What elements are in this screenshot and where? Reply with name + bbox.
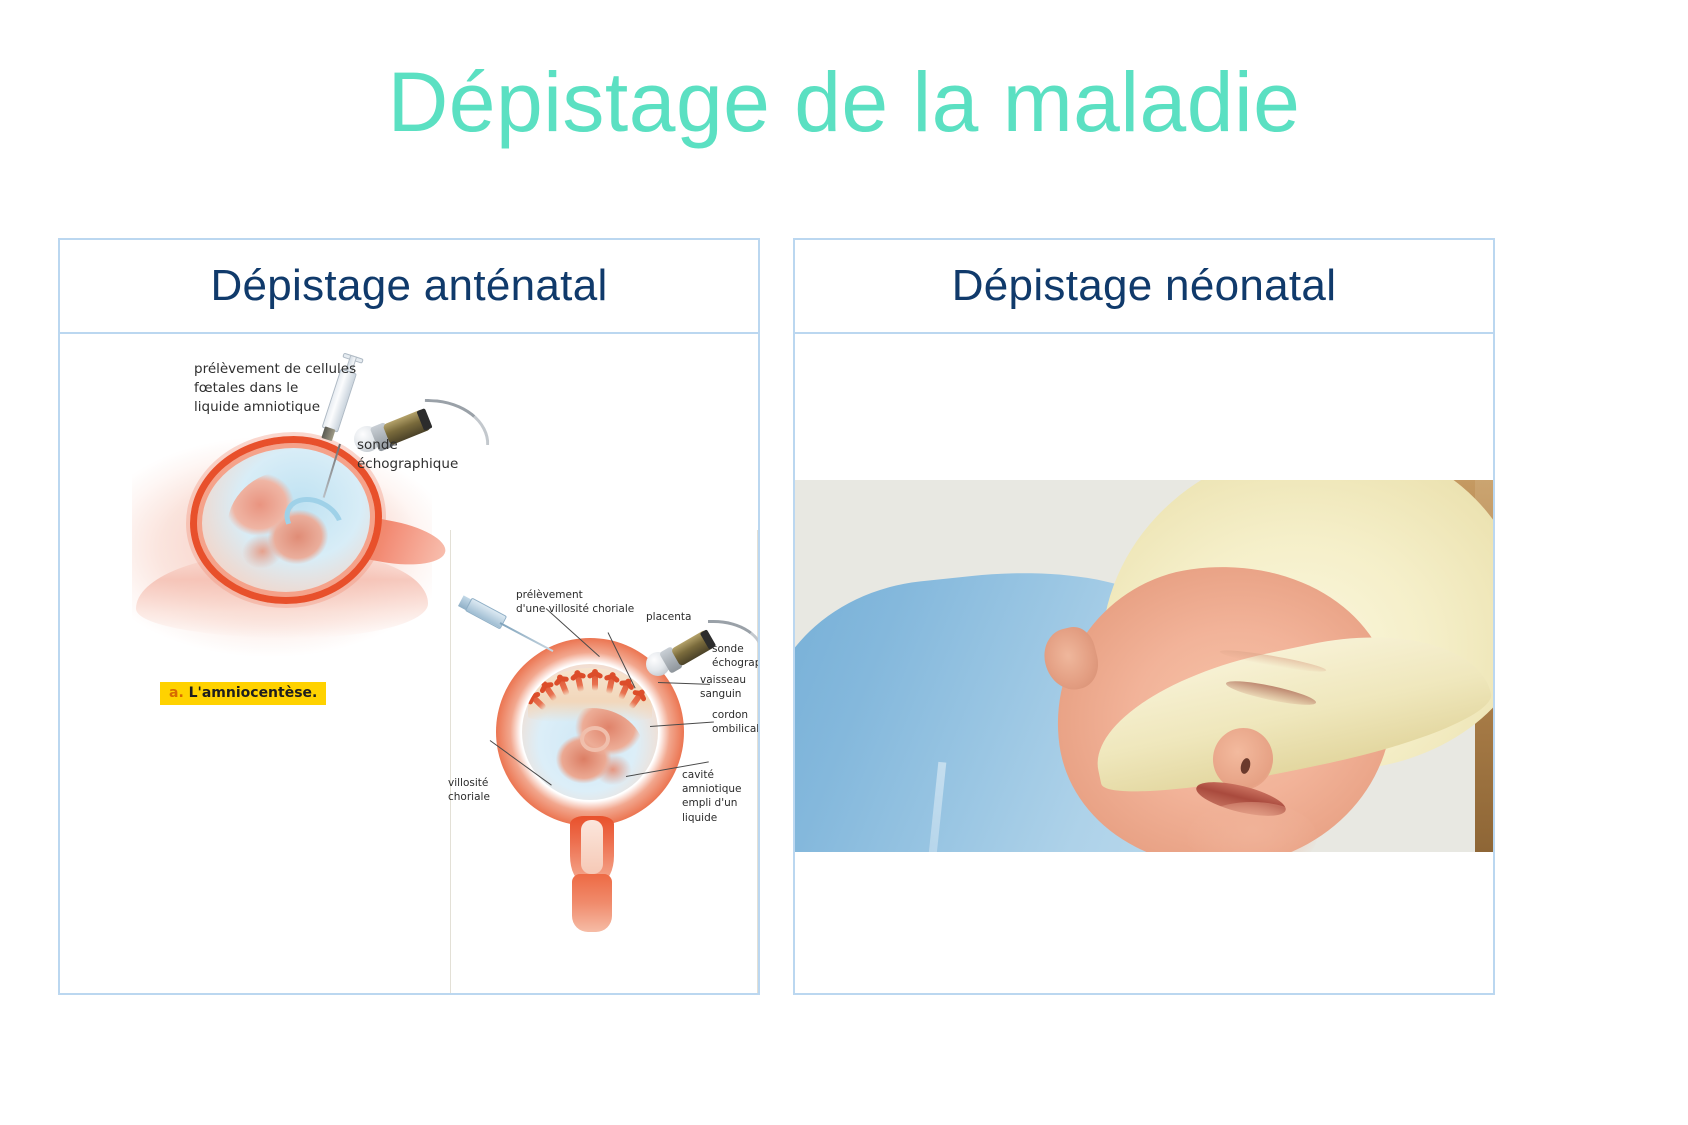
label-cavite-amniotique: cavité amniotique empli d'un liquide xyxy=(682,768,758,825)
figure-amniocentesis: prélèvement de cellules fœtales dans le … xyxy=(132,340,432,715)
caption-marker-a: a. xyxy=(169,685,184,701)
panel-neonatal-header: Dépistage néonatal xyxy=(795,240,1493,334)
panel-neonatal-body xyxy=(795,334,1493,993)
figure-choriocentesis: prélèvement d'une villosité choriale pla… xyxy=(450,530,758,993)
label-prelevement-cellules: prélèvement de cellules fœtales dans le … xyxy=(194,360,356,417)
panel-neonatal: Dépistage néonatal xyxy=(793,238,1495,995)
label-villosite-choriale: villosité choriale xyxy=(448,776,490,804)
blanket-fold xyxy=(917,762,946,852)
label-vaisseau-sanguin: vaisseau sanguin xyxy=(700,673,758,701)
newborn-photo xyxy=(795,480,1493,852)
page-title: Dépistage de la maladie xyxy=(0,58,1688,146)
label-sonde-echographique: sonde échographique xyxy=(712,642,758,670)
label-placenta: placenta xyxy=(646,610,691,624)
vaginal-canal xyxy=(572,874,612,932)
fetus-illustration xyxy=(540,708,644,796)
panel-antenatal-title: Dépistage anténatal xyxy=(210,261,607,311)
slide: Dépistage de la maladie Dépistage anténa… xyxy=(0,0,1688,1125)
caption-amniocentese: a. L'amniocentèse. xyxy=(160,682,326,705)
caption-text-a: L'amniocentèse. xyxy=(189,685,318,701)
panel-neonatal-title: Dépistage néonatal xyxy=(952,261,1337,311)
panel-antenatal-header: Dépistage anténatal xyxy=(60,240,758,334)
panel-antenatal-body: prélèvement de cellules fœtales dans le … xyxy=(60,334,758,993)
label-sonde-echographique: sonde échographique xyxy=(357,436,458,474)
panel-antenatal: Dépistage anténatal xyxy=(58,238,760,995)
umbilical-cord-shape xyxy=(580,726,610,752)
cervical-canal xyxy=(581,820,603,874)
label-cordon-ombilical: cordon ombilical xyxy=(712,708,758,736)
label-prelevement-villosite: prélèvement d'une villosité choriale xyxy=(516,588,634,616)
